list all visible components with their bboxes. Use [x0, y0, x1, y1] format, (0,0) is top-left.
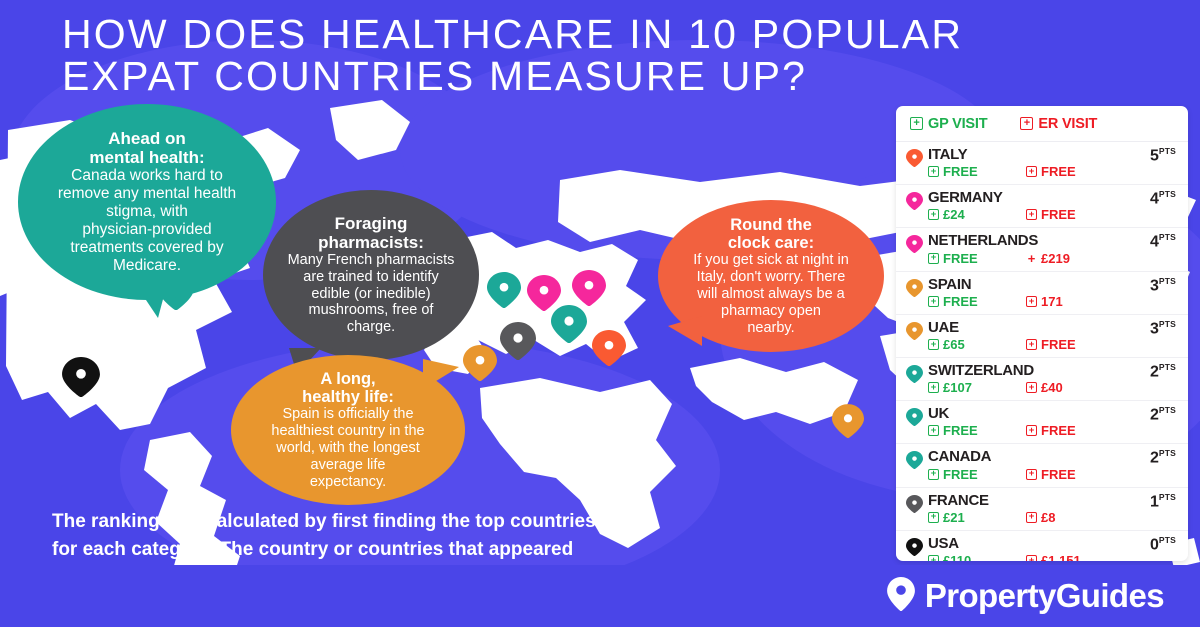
gp-visit-cost: +£24 [928, 207, 1026, 222]
status-badge: 4PTS [1150, 190, 1176, 207]
points-value: 0 [1150, 536, 1159, 553]
gp-cost-value: FREE [943, 467, 978, 482]
page-title: How does healthcare in 10 popular expat … [62, 14, 1162, 98]
country-pin-icon [906, 363, 928, 383]
table-row[interactable]: SPAIN+FREE+1713PTS [896, 272, 1188, 315]
status-badge: 2PTS [1150, 363, 1176, 380]
country-name: CANADA [928, 449, 1176, 465]
gp-cost-value: £110 [943, 553, 971, 561]
plus-box-icon: + [1026, 166, 1037, 177]
plus-box-icon: + [1026, 296, 1037, 307]
row-content: ITALY+FREE+FREE [928, 147, 1176, 179]
callout-body: Many French pharmacists are trained to i… [288, 252, 455, 336]
plus-box-icon: + [910, 117, 923, 130]
cost-pair: +FREE+FREE [928, 423, 1176, 438]
gp-visit-cost: +FREE [928, 164, 1026, 179]
er-visit-cost: +171 [1026, 294, 1063, 309]
country-pin-icon [906, 190, 928, 210]
points-suffix: PTS [1159, 189, 1176, 199]
table-row[interactable]: CANADA+FREE+FREE2PTS [896, 444, 1188, 487]
callout-bubble-france: Foraging pharmacists: Many French pharma… [263, 190, 479, 360]
gp-visit-cost: +FREE [928, 294, 1026, 309]
country-pin-icon [906, 320, 928, 340]
gp-visit-cost: +FREE [928, 467, 1026, 482]
country-ranking-panel: + GP VISIT + ER VISIT ITALY+FREE+FREE5PT… [896, 106, 1188, 561]
map-pin-germany[interactable] [572, 270, 606, 306]
bubble-tail [138, 288, 166, 318]
gp-cost-value: FREE [943, 251, 978, 266]
gp-cost-value: FREE [943, 423, 978, 438]
points-suffix: PTS [1159, 535, 1176, 545]
cost-pair: +£24+FREE [928, 207, 1176, 222]
cost-pair: +£110+£1,151 [928, 553, 1176, 561]
er-cost-value: FREE [1041, 467, 1076, 482]
cost-pair: +£21+£8 [928, 510, 1176, 525]
callout-bubble-canada: Ahead on mental health: Canada works har… [18, 104, 276, 300]
plus-box-icon: + [1026, 209, 1037, 220]
row-content: SPAIN+FREE+171 [928, 277, 1176, 309]
brand-name: PropertyGuides [925, 577, 1164, 615]
er-visit-cost: +FREE [1026, 467, 1076, 482]
country-pin-icon [906, 406, 928, 426]
points-suffix: PTS [1159, 319, 1176, 329]
row-content: USA+£110+£1,151 [928, 536, 1176, 561]
map-pin-uae[interactable] [832, 404, 864, 438]
map-pin-spain[interactable] [463, 345, 497, 381]
er-visit-header: + ER VISIT [1020, 116, 1097, 132]
gp-cost-value: £24 [943, 207, 965, 222]
country-pin-icon [906, 147, 928, 167]
table-row[interactable]: FRANCE+£21+£81PTS [896, 488, 1188, 531]
callout-heading: Ahead on mental health: [89, 129, 204, 167]
plus-box-icon: + [928, 253, 939, 264]
callout-heading: Round the clock care: [728, 216, 814, 253]
points-suffix: PTS [1159, 405, 1176, 415]
table-row[interactable]: SWITZERLAND+£107+£402PTS [896, 358, 1188, 401]
gp-visit-label: GP VISIT [928, 116, 987, 132]
table-row[interactable]: UAE+£65+FREE3PTS [896, 315, 1188, 358]
country-pin-icon [906, 233, 928, 253]
points-suffix: PTS [1159, 448, 1176, 458]
country-name: FRANCE [928, 493, 1176, 509]
plus-icon: + [1026, 253, 1037, 264]
map-pin-italy[interactable] [592, 330, 626, 366]
plus-box-icon: + [1026, 425, 1037, 436]
status-badge: 4PTS [1150, 233, 1176, 250]
map-pin-france[interactable] [500, 322, 536, 360]
er-cost-value: £40 [1041, 380, 1063, 395]
country-pin-icon [906, 493, 928, 513]
map-pin-uk[interactable] [487, 272, 521, 308]
table-row[interactable]: USA+£110+£1,1510PTS [896, 531, 1188, 561]
gp-visit-header: + GP VISIT [910, 116, 987, 132]
panel-header: + GP VISIT + ER VISIT [896, 106, 1188, 142]
brand-footer: PropertyGuides [0, 565, 1200, 627]
gp-visit-cost: +£107 [928, 380, 1026, 395]
row-content: CANADA+FREE+FREE [928, 449, 1176, 481]
status-badge: 1PTS [1150, 493, 1176, 510]
gp-cost-value: FREE [943, 164, 978, 179]
callout-body: Spain is officially the healthiest count… [271, 406, 424, 490]
plus-box-icon: + [928, 382, 939, 393]
callout-heading: Foraging pharmacists: [318, 214, 424, 252]
points-suffix: PTS [1159, 492, 1176, 502]
er-cost-value: FREE [1041, 337, 1076, 352]
points-value: 2 [1150, 450, 1159, 467]
er-cost-value: FREE [1041, 207, 1076, 222]
map-pin-switzerland[interactable] [551, 305, 587, 343]
er-visit-cost: +£1,151 [1026, 553, 1081, 561]
country-name: ITALY [928, 147, 1176, 163]
points-value: 5 [1150, 147, 1159, 164]
table-row[interactable]: GERMANY+£24+FREE4PTS [896, 185, 1188, 228]
plus-box-icon: + [1026, 469, 1037, 480]
er-visit-cost: +£219 [1026, 251, 1070, 266]
callout-bubble-italy: Round the clock care: If you get sick at… [658, 200, 884, 352]
plus-box-icon: + [928, 339, 939, 350]
cost-pair: +FREE+FREE [928, 467, 1176, 482]
callout-heading: A long, healthy life: [302, 370, 394, 407]
er-visit-cost: +FREE [1026, 423, 1076, 438]
gp-visit-cost: +FREE [928, 251, 1026, 266]
callout-bubble-spain: A long, healthy life: Spain is officiall… [231, 355, 465, 505]
plus-box-icon: + [928, 166, 939, 177]
callout-body: Canada works hard to remove any mental h… [58, 167, 236, 275]
row-content: GERMANY+£24+FREE [928, 190, 1176, 222]
points-value: 3 [1150, 320, 1159, 337]
status-badge: 2PTS [1150, 449, 1176, 466]
gp-visit-cost: +FREE [928, 423, 1026, 438]
country-name: GERMANY [928, 190, 1176, 206]
row-content: FRANCE+£21+£8 [928, 493, 1176, 525]
cost-pair: +£65+FREE [928, 337, 1176, 352]
country-pin-icon [906, 449, 928, 469]
plus-box-icon: + [1026, 382, 1037, 393]
cost-pair: +FREE+£219 [928, 251, 1176, 266]
points-suffix: PTS [1159, 362, 1176, 372]
plus-box-icon: + [1026, 512, 1037, 523]
country-name: USA [928, 536, 1176, 552]
cost-pair: +£107+£40 [928, 380, 1176, 395]
points-suffix: PTS [1159, 232, 1176, 242]
cost-pair: +FREE+171 [928, 294, 1176, 309]
er-cost-value: FREE [1041, 423, 1076, 438]
plus-box-icon: + [928, 209, 939, 220]
points-value: 1 [1150, 493, 1159, 510]
table-row[interactable]: UK+FREE+FREE2PTS [896, 401, 1188, 444]
gp-visit-cost: +£21 [928, 510, 1026, 525]
plus-box-icon: + [928, 512, 939, 523]
plus-box-icon: + [1020, 117, 1033, 130]
status-badge: 2PTS [1150, 406, 1176, 423]
er-cost-value: 171 [1041, 294, 1063, 309]
er-visit-cost: +£40 [1026, 380, 1063, 395]
plus-box-icon: + [928, 555, 939, 561]
cost-pair: +FREE+FREE [928, 164, 1176, 179]
plus-box-icon: + [1026, 339, 1037, 350]
points-suffix: PTS [1159, 146, 1176, 156]
table-row[interactable]: ITALY+FREE+FREE5PTS [896, 142, 1188, 185]
row-content: SWITZERLAND+£107+£40 [928, 363, 1176, 395]
er-cost-value: £8 [1041, 510, 1055, 525]
plus-box-icon: + [928, 469, 939, 480]
country-name: SWITZERLAND [928, 363, 1176, 379]
points-value: 4 [1150, 191, 1159, 208]
status-badge: 0PTS [1150, 536, 1176, 553]
er-cost-value: £1,151 [1041, 553, 1081, 561]
row-content: UK+FREE+FREE [928, 406, 1176, 438]
row-content: UAE+£65+FREE [928, 320, 1176, 352]
map-pin-usa[interactable] [62, 357, 100, 397]
status-badge: 3PTS [1150, 277, 1176, 294]
country-name: UAE [928, 320, 1176, 336]
country-name: SPAIN [928, 277, 1176, 293]
gp-cost-value: £107 [943, 380, 972, 395]
er-cost-value: FREE [1041, 164, 1076, 179]
country-pin-icon [906, 536, 928, 556]
er-visit-cost: +FREE [1026, 164, 1076, 179]
er-visit-cost: +FREE [1026, 207, 1076, 222]
points-value: 4 [1150, 234, 1159, 251]
map-pin-icon [887, 577, 915, 616]
ranking-list: ITALY+FREE+FREE5PTSGERMANY+£24+FREE4PTSN… [896, 142, 1188, 561]
er-visit-cost: +FREE [1026, 337, 1076, 352]
callout-body: If you get sick at night in Italy, don't… [693, 252, 849, 336]
er-visit-cost: +£8 [1026, 510, 1055, 525]
plus-box-icon: + [1026, 555, 1037, 561]
points-value: 3 [1150, 277, 1159, 294]
points-value: 2 [1150, 406, 1159, 423]
table-row[interactable]: NETHERLANDS+FREE+£2194PTS [896, 228, 1188, 271]
infographic-canvas: How does healthcare in 10 popular expat … [0, 0, 1200, 627]
gp-cost-value: £65 [943, 337, 965, 352]
status-badge: 5PTS [1150, 147, 1176, 164]
er-visit-label: ER VISIT [1038, 116, 1097, 132]
plus-box-icon: + [928, 425, 939, 436]
gp-cost-value: FREE [943, 294, 978, 309]
row-content: NETHERLANDS+FREE+£219 [928, 233, 1176, 265]
country-name: UK [928, 406, 1176, 422]
country-name: NETHERLANDS [928, 233, 1176, 249]
plus-box-icon: + [928, 296, 939, 307]
er-cost-value: £219 [1041, 251, 1070, 266]
points-value: 2 [1150, 363, 1159, 380]
bubble-tail [668, 316, 702, 346]
status-badge: 3PTS [1150, 320, 1176, 337]
points-suffix: PTS [1159, 276, 1176, 286]
bubble-tail [423, 359, 459, 389]
country-pin-icon [906, 277, 928, 297]
gp-visit-cost: +£65 [928, 337, 1026, 352]
gp-cost-value: £21 [943, 510, 965, 525]
brand-logo[interactable]: PropertyGuides [887, 577, 1164, 616]
gp-visit-cost: +£110 [928, 553, 1026, 561]
